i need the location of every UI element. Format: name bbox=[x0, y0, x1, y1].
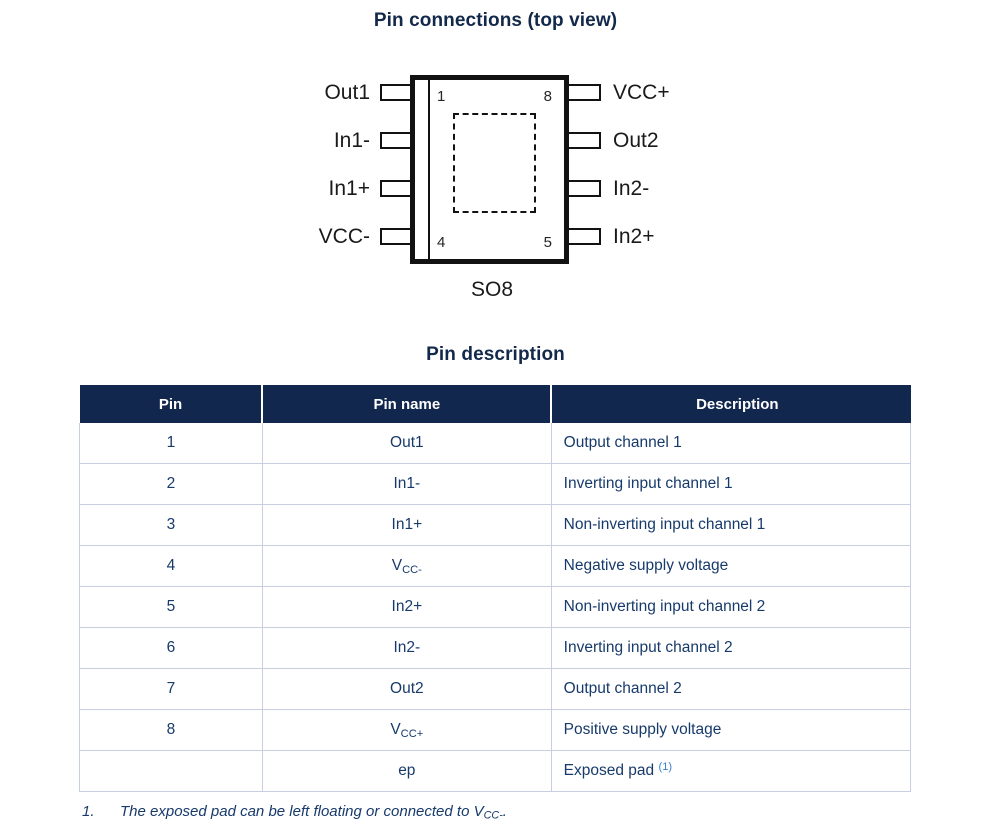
cell-pin: 7 bbox=[80, 669, 263, 710]
lead-pin-3 bbox=[380, 180, 414, 197]
pin-name-text: V bbox=[390, 721, 400, 738]
cell-description: Inverting input channel 1 bbox=[551, 464, 910, 505]
cell-pin: 5 bbox=[80, 587, 263, 628]
table-row: 5In2+Non-inverting input channel 2 bbox=[80, 587, 911, 628]
exposed-pad-outline bbox=[453, 113, 536, 213]
cell-pin-name: In2+ bbox=[262, 587, 551, 628]
cell-pin: 1 bbox=[80, 423, 263, 464]
pin-connections-title: Pin connections (top view) bbox=[0, 10, 991, 32]
cell-description: Positive supply voltage bbox=[551, 710, 910, 751]
cell-description: Non-inverting input channel 1 bbox=[551, 505, 910, 546]
description-text: Output channel 1 bbox=[564, 434, 682, 451]
cell-description: Negative supply voltage bbox=[551, 546, 910, 587]
lead-pin-5 bbox=[567, 228, 601, 245]
footnote-text-after: . bbox=[503, 803, 507, 820]
cell-pin: 8 bbox=[80, 710, 263, 751]
cell-pin-name: VCC- bbox=[262, 546, 551, 587]
description-text: Non-inverting input channel 1 bbox=[564, 516, 766, 533]
table-row: 1Out1Output channel 1 bbox=[80, 423, 911, 464]
pin-name-subscript: CC- bbox=[402, 564, 422, 576]
pin-name-text: In2+ bbox=[392, 598, 423, 615]
footnote: 1.The exposed pad can be left floating o… bbox=[82, 803, 912, 820]
cell-pin-name: Out1 bbox=[262, 423, 551, 464]
footnote-number: 1. bbox=[82, 803, 120, 820]
pin-label-in2-plus: In2+ bbox=[613, 226, 654, 247]
table-row: 8VCC+Positive supply voltage bbox=[80, 710, 911, 751]
pin-name-text: Out2 bbox=[390, 680, 424, 697]
pin-label-out1: Out1 bbox=[324, 82, 370, 103]
description-text: Exposed pad bbox=[564, 762, 655, 779]
cell-pin-name: ep bbox=[262, 751, 551, 792]
package-diagram: 1 8 4 5 Out1 In1- In1+ VCC- VCC+ Out2 In… bbox=[0, 66, 991, 316]
column-header-description: Description bbox=[551, 385, 910, 423]
footnote-reference-link[interactable]: (1) bbox=[658, 761, 672, 773]
cell-pin bbox=[80, 751, 263, 792]
lead-pin-8 bbox=[567, 84, 601, 101]
pin-label-in1-plus: In1+ bbox=[329, 178, 370, 199]
lead-pin-2 bbox=[380, 132, 414, 149]
footnote-subscript: CC- bbox=[484, 810, 503, 822]
cell-description: Output channel 1 bbox=[551, 423, 910, 464]
cell-pin-name: In1- bbox=[262, 464, 551, 505]
cell-description: Exposed pad (1) bbox=[551, 751, 910, 792]
pin-name-subscript: CC+ bbox=[401, 728, 424, 740]
lead-pin-6 bbox=[567, 180, 601, 197]
pin-name-text: V bbox=[392, 557, 402, 574]
pin-number-8: 8 bbox=[544, 89, 552, 104]
description-text: Inverting input channel 1 bbox=[564, 475, 733, 492]
pin-number-5: 5 bbox=[544, 235, 552, 250]
pin-name-text: In1- bbox=[393, 475, 420, 492]
lead-pin-1 bbox=[380, 84, 414, 101]
lead-pin-4 bbox=[380, 228, 414, 245]
pin-label-in2-minus: In2- bbox=[613, 178, 649, 199]
pin-1-marker-line bbox=[428, 80, 430, 259]
table-header-row: Pin Pin name Description bbox=[80, 385, 911, 423]
pin-label-vcc-minus: VCC- bbox=[319, 226, 370, 247]
cell-description: Output channel 2 bbox=[551, 669, 910, 710]
table-body: 1Out1Output channel 12In1-Inverting inpu… bbox=[80, 423, 911, 792]
cell-description: Inverting input channel 2 bbox=[551, 628, 910, 669]
cell-pin-name: In2- bbox=[262, 628, 551, 669]
table-header: Pin Pin name Description bbox=[80, 385, 911, 423]
package-name-label: SO8 bbox=[292, 278, 692, 302]
cell-pin: 6 bbox=[80, 628, 263, 669]
table-row: epExposed pad (1) bbox=[80, 751, 911, 792]
pin-description-table: Pin Pin name Description 1Out1Output cha… bbox=[79, 385, 911, 792]
package-body: 1 8 4 5 bbox=[410, 75, 569, 264]
description-text: Non-inverting input channel 2 bbox=[564, 598, 766, 615]
package-diagram-inner: 1 8 4 5 Out1 In1- In1+ VCC- VCC+ Out2 In… bbox=[295, 66, 695, 316]
table-row: 4VCC-Negative supply voltage bbox=[80, 546, 911, 587]
pin-number-1: 1 bbox=[437, 89, 445, 104]
cell-pin: 2 bbox=[80, 464, 263, 505]
table-row: 2In1-Inverting input channel 1 bbox=[80, 464, 911, 505]
footnote-text-before: The exposed pad can be left floating or … bbox=[120, 803, 484, 820]
cell-pin-name: VCC+ bbox=[262, 710, 551, 751]
cell-description: Non-inverting input channel 2 bbox=[551, 587, 910, 628]
pin-name-text: ep bbox=[398, 762, 415, 779]
column-header-pin: Pin bbox=[80, 385, 263, 423]
table-row: 3In1+Non-inverting input channel 1 bbox=[80, 505, 911, 546]
description-text: Positive supply voltage bbox=[564, 721, 722, 738]
column-header-pin-name: Pin name bbox=[262, 385, 551, 423]
pin-label-out2: Out2 bbox=[613, 130, 659, 151]
table-row: 6In2-Inverting input channel 2 bbox=[80, 628, 911, 669]
cell-pin: 3 bbox=[80, 505, 263, 546]
cell-pin-name: Out2 bbox=[262, 669, 551, 710]
pin-number-4: 4 bbox=[437, 235, 445, 250]
description-text: Output channel 2 bbox=[564, 680, 682, 697]
pin-name-text: In1+ bbox=[392, 516, 423, 533]
description-text: Negative supply voltage bbox=[564, 557, 729, 574]
table-row: 7Out2Output channel 2 bbox=[80, 669, 911, 710]
pin-description-title: Pin description bbox=[0, 344, 991, 366]
pin-name-text: Out1 bbox=[390, 434, 424, 451]
cell-pin-name: In1+ bbox=[262, 505, 551, 546]
pin-label-vcc-plus: VCC+ bbox=[613, 82, 670, 103]
pin-name-text: In2- bbox=[393, 639, 420, 656]
lead-pin-7 bbox=[567, 132, 601, 149]
pin-label-in1-minus: In1- bbox=[334, 130, 370, 151]
cell-pin: 4 bbox=[80, 546, 263, 587]
description-text: Inverting input channel 2 bbox=[564, 639, 733, 656]
